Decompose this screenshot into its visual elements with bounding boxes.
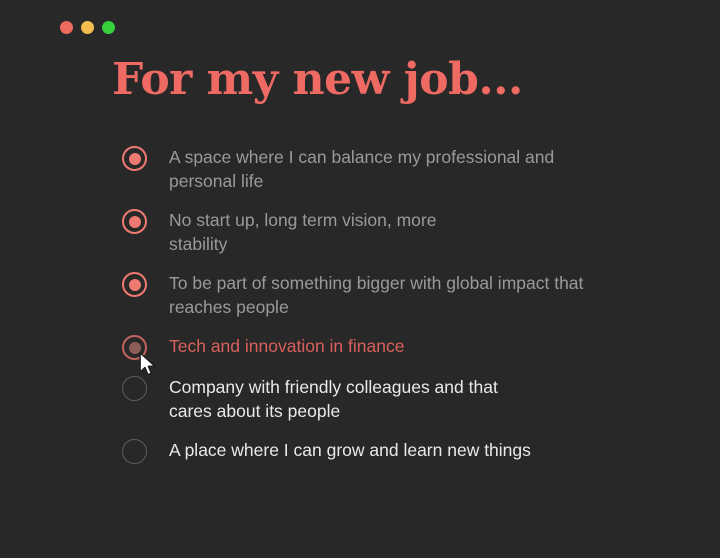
options-list: A space where I can balance my professio… (122, 145, 682, 479)
radio-button-5[interactable] (122, 376, 147, 401)
window-controls (60, 21, 115, 34)
option-row[interactable]: A place where I can grow and learn new t… (122, 438, 682, 464)
option-label[interactable]: No start up, long term vision, more stab… (169, 208, 436, 256)
radio-dot-icon (129, 446, 141, 458)
option-row[interactable]: Tech and innovation in finance (122, 334, 682, 360)
minimize-window-button[interactable] (81, 21, 94, 34)
radio-dot-icon (129, 153, 141, 165)
option-label[interactable]: A space where I can balance my professio… (169, 145, 554, 193)
option-row[interactable]: No start up, long term vision, more stab… (122, 208, 682, 256)
option-label[interactable]: Tech and innovation in finance (169, 334, 404, 358)
radio-button-3[interactable] (122, 272, 147, 297)
option-row[interactable]: A space where I can balance my professio… (122, 145, 682, 193)
option-label[interactable]: A place where I can grow and learn new t… (169, 438, 531, 462)
radio-button-1[interactable] (122, 146, 147, 171)
option-row[interactable]: To be part of something bigger with glob… (122, 271, 682, 319)
radio-dot-icon (129, 279, 141, 291)
maximize-window-button[interactable] (102, 21, 115, 34)
page-title: For my new job... (112, 55, 523, 106)
radio-button-2[interactable] (122, 209, 147, 234)
close-window-button[interactable] (60, 21, 73, 34)
radio-button-4[interactable] (122, 335, 147, 360)
radio-button-6[interactable] (122, 439, 147, 464)
option-label[interactable]: Company with friendly colleagues and tha… (169, 375, 498, 423)
option-row[interactable]: Company with friendly colleagues and tha… (122, 375, 682, 423)
option-label[interactable]: To be part of something bigger with glob… (169, 271, 583, 319)
radio-dot-icon (129, 383, 141, 395)
radio-dot-icon (129, 342, 141, 354)
radio-dot-icon (129, 216, 141, 228)
